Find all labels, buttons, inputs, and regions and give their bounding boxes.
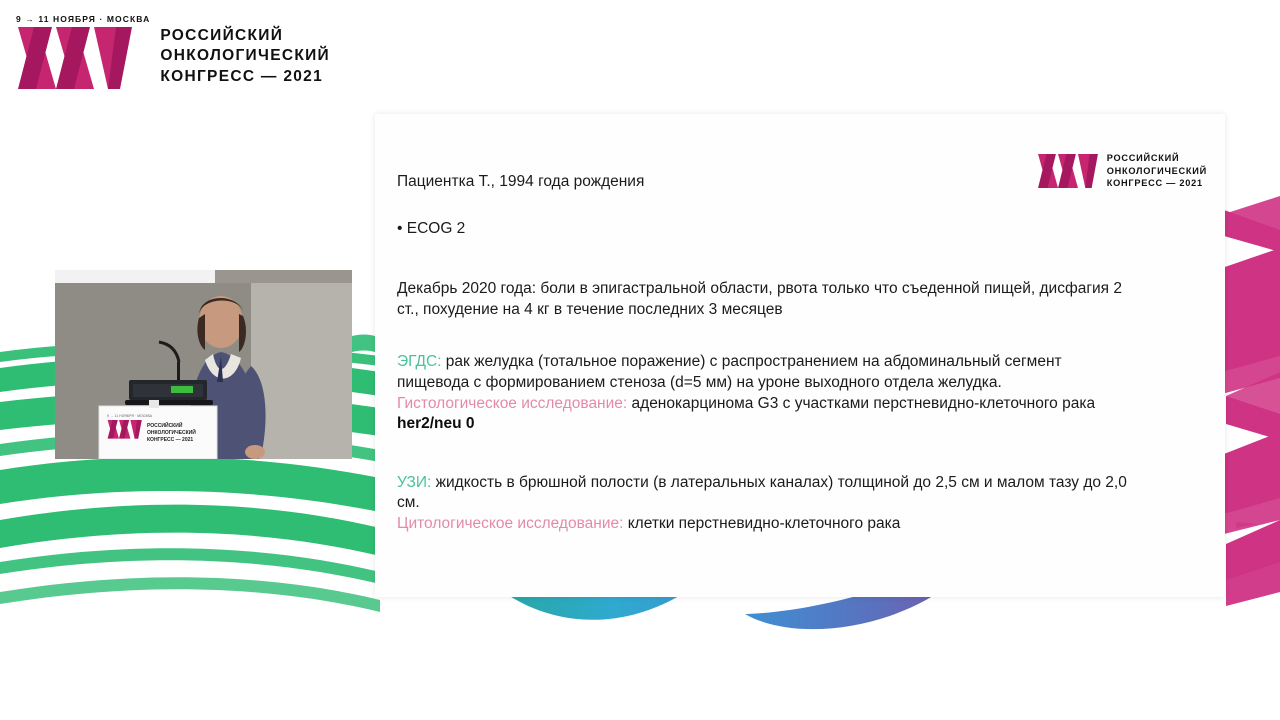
egds-text-1: рак желудка (тотальное поражение) с расп…: [442, 353, 1062, 370]
egds-label: ЭГДС:: [397, 353, 442, 370]
egds-block: ЭГДС: рак желудка (тотальное поражение) …: [397, 352, 1203, 434]
congress-header-logo: 9 → 11 НОЯБРЯ · МОСКВА РОССИЙСКИЙ ОНКОЛО…: [16, 14, 330, 89]
header-logo-line1: РОССИЙСКИЙ: [160, 26, 330, 46]
histology-text: аденокарцинома G3 с участками перстневид…: [627, 395, 1095, 412]
header-logo-wordmark: РОССИЙСКИЙ ОНКОЛОГИЧЕСКИЙ КОНГРЕСС — 202…: [160, 26, 330, 89]
cytology-text: клетки перстневидно-клеточного рака: [623, 515, 900, 532]
magenta-ribbon-group: [1222, 196, 1280, 606]
uzi-text-1: жидкость в брюшной полости (в латеральны…: [431, 474, 1127, 491]
header-logo-line3: КОНГРЕСС — 2021: [160, 67, 330, 87]
cytology-label: Цитологическое исследование:: [397, 515, 623, 532]
svg-text:РОССИЙСКИЙ: РОССИЙСКИЙ: [147, 421, 183, 429]
slide-content: Пациентка Т., 1994 года рождения • ECOG …: [397, 172, 1203, 535]
xxv-logo-mark: [16, 27, 134, 89]
speaker-video[interactable]: 9 → 11 НОЯБРЯ · МОСКВА РОССИЙСКИЙ ОНКОЛО…: [55, 270, 352, 459]
history-line-2: ст., похудение на 4 кг в течение последн…: [397, 300, 1203, 321]
green-ribbon-right: [352, 335, 375, 353]
uzi-block: УЗИ: жидкость в брюшной полости (в латер…: [397, 473, 1203, 535]
header-logo-line2: ОНКОЛОГИЧЕСКИЙ: [160, 46, 330, 66]
speaker-video-frame: 9 → 11 НОЯБРЯ · МОСКВА РОССИЙСКИЙ ОНКОЛО…: [55, 270, 352, 459]
header-dateline: 9 → 11 НОЯБРЯ · МОСКВА: [16, 14, 150, 24]
uzi-label: УЗИ:: [397, 474, 431, 491]
uzi-line-1: УЗИ: жидкость в брюшной полости (в латер…: [397, 473, 1203, 494]
history-line-1: Декабрь 2020 года: боли в эпигастральной…: [397, 279, 1203, 300]
histology-line: Гистологическое исследование: аденокарци…: [397, 394, 1203, 415]
histology-label: Гистологическое исследование:: [397, 395, 627, 412]
ecog-line: • ECOG 2: [397, 219, 1203, 240]
uzi-line-2: см.: [397, 493, 1203, 514]
cytology-line: Цитологическое исследование: клетки перс…: [397, 514, 1203, 535]
svg-text:ОНКОЛОГИЧЕСКИЙ: ОНКОЛОГИЧЕСКИЙ: [147, 428, 196, 436]
slide-panel: РОССИЙСКИЙ ОНКОЛОГИЧЕСКИЙ КОНГРЕСС — 202…: [375, 114, 1225, 597]
history-block: Декабрь 2020 года: боли в эпигастральной…: [397, 279, 1203, 320]
slide-logo-line1: РОССИЙСКИЙ: [1107, 152, 1207, 165]
egds-line-2: пищевода с формированием стеноза (d=5 мм…: [397, 373, 1203, 394]
svg-text:КОНГРЕСС — 2021: КОНГРЕСС — 2021: [147, 437, 193, 443]
svg-text:9 → 11 НОЯБРЯ · МОСКВА: 9 → 11 НОЯБРЯ · МОСКВА: [107, 414, 153, 418]
her2-line: her2/neu 0: [397, 414, 1203, 435]
presentation-viewer: 9 → 11 НОЯБРЯ · МОСКВА РОССИЙСКИЙ ОНКОЛО…: [0, 0, 1280, 720]
egds-line-1: ЭГДС: рак желудка (тотальное поражение) …: [397, 352, 1203, 373]
patient-line: Пациентка Т., 1994 года рождения: [397, 172, 1203, 193]
